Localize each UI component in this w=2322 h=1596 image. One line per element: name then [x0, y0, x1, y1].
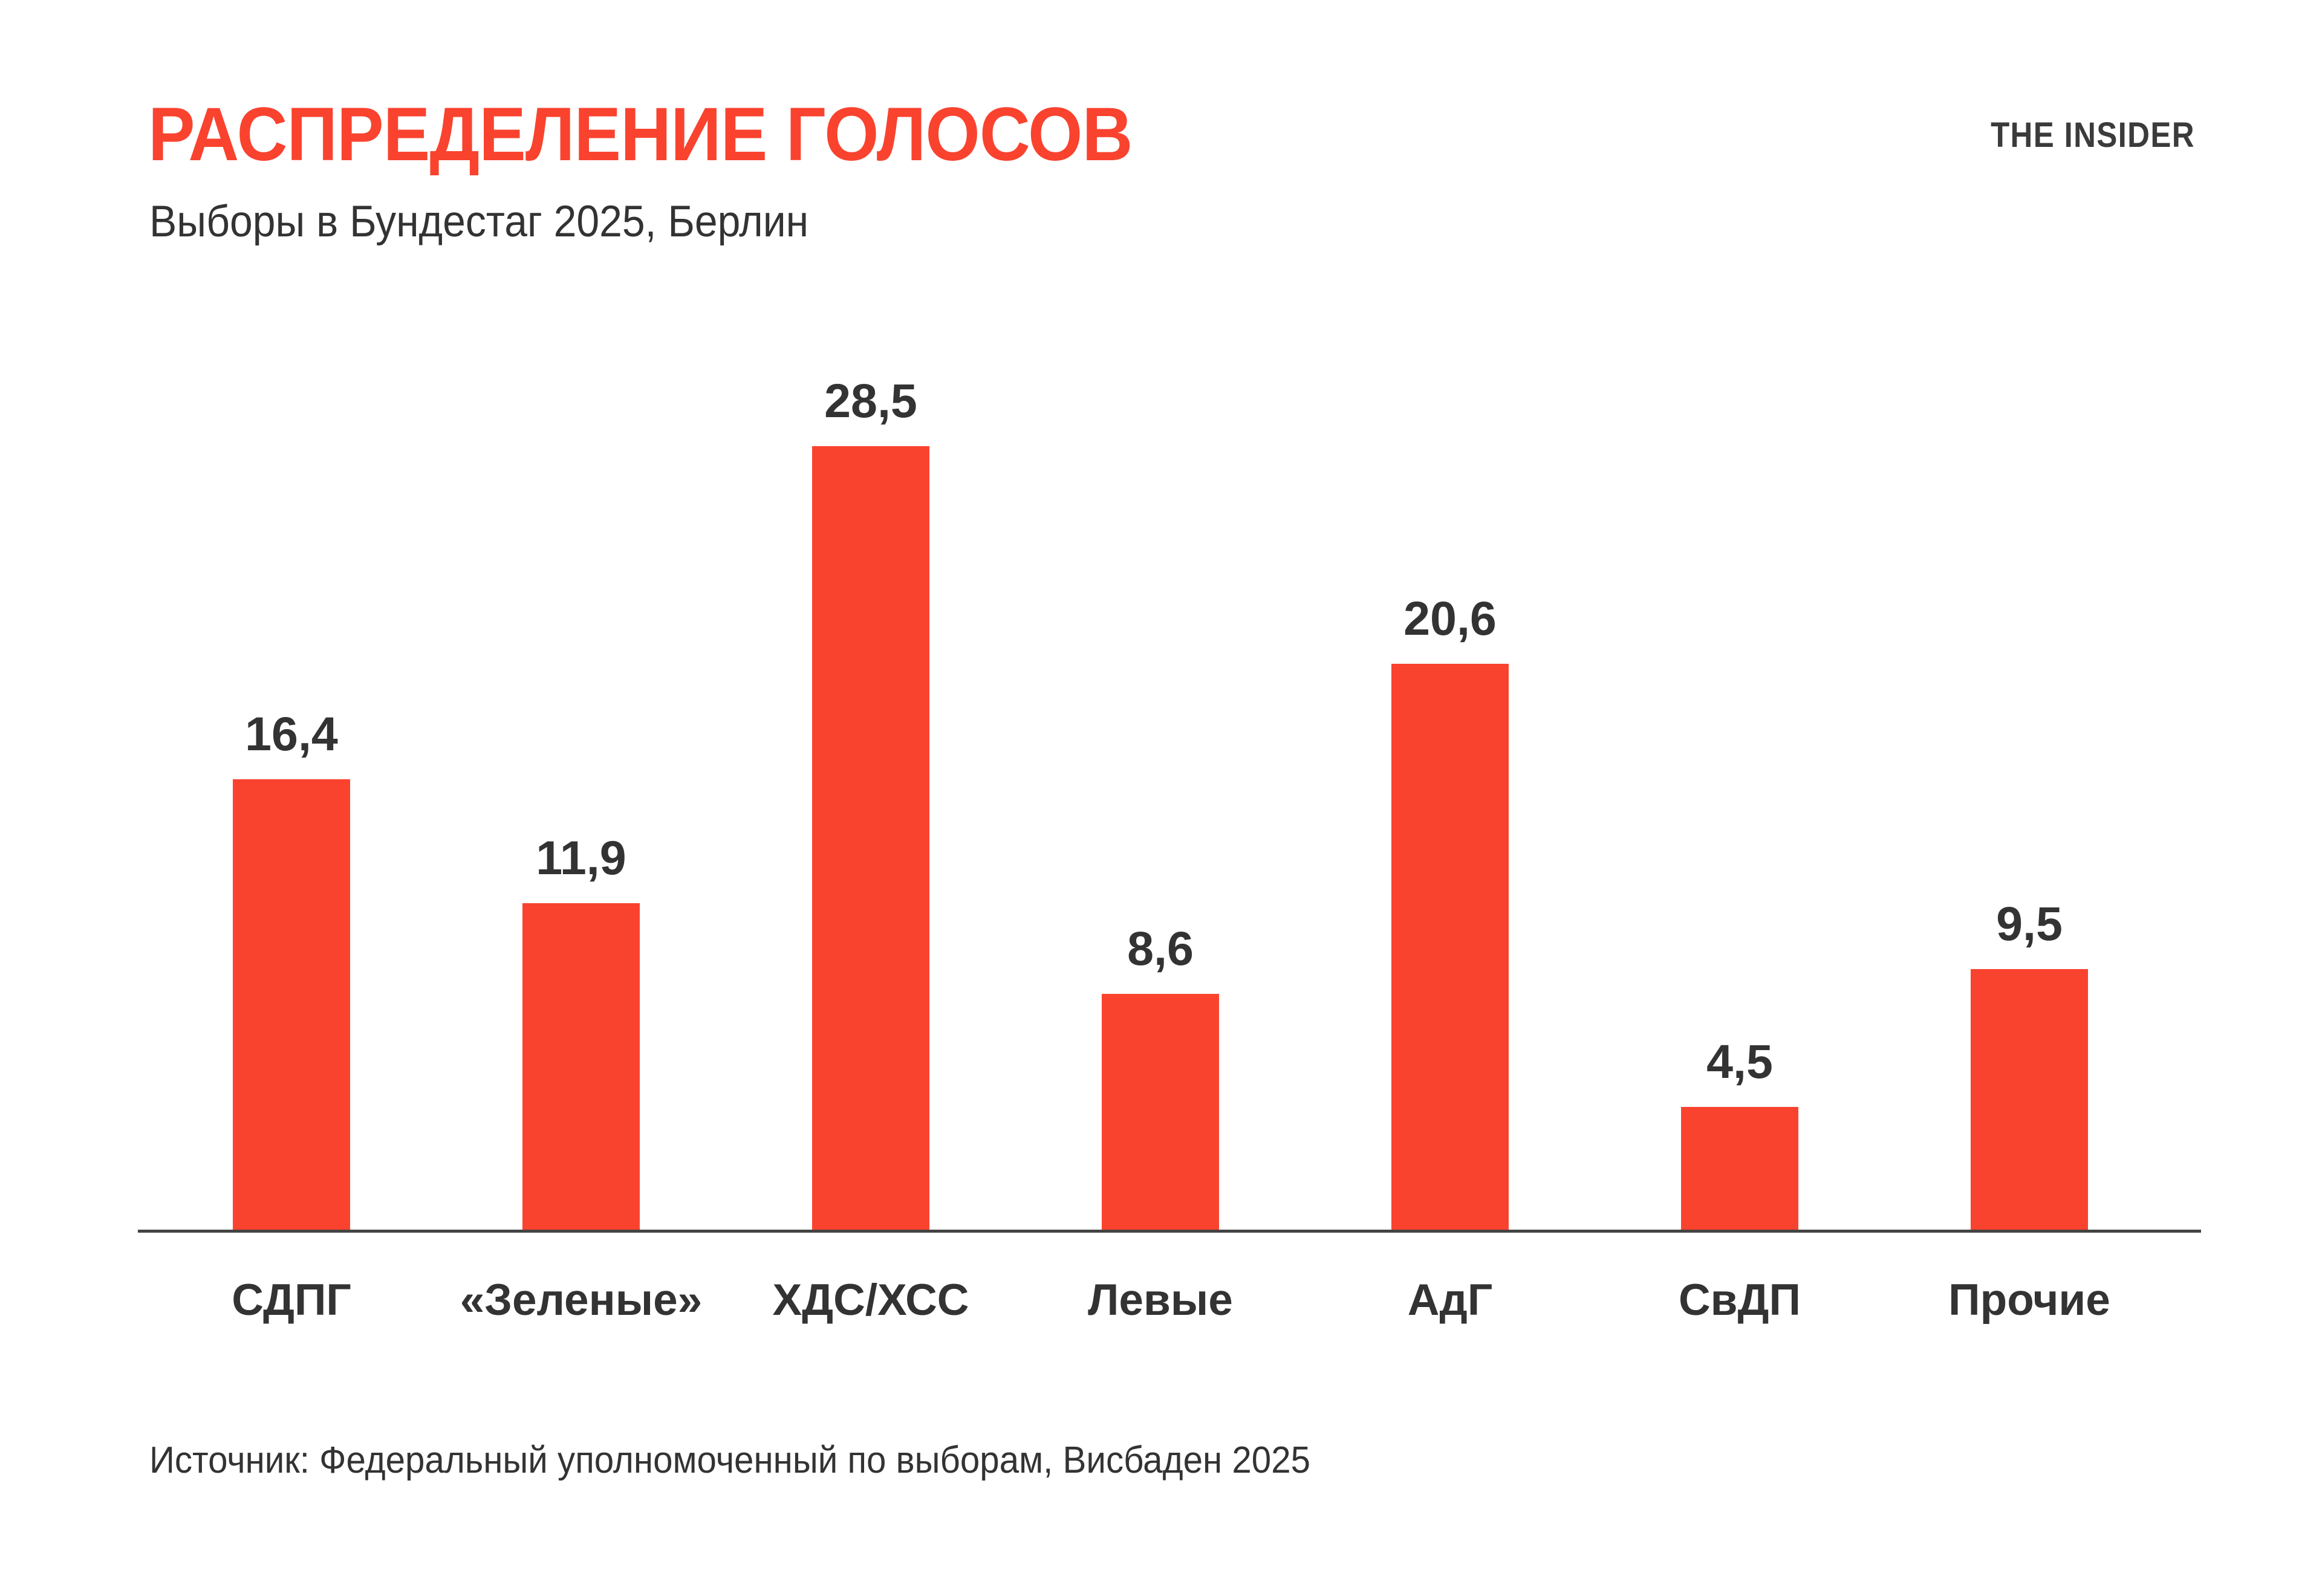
- bar-category-label: Прочие: [1880, 1278, 2179, 1322]
- bar-value-label: 4,5: [1627, 1037, 1853, 1085]
- bar-group: 20,6АдГ: [1391, 0, 1509, 1231]
- bar-category-label: СДПГ: [142, 1278, 441, 1322]
- bar-group: 11,9«Зеленые»: [522, 0, 640, 1231]
- bar[interactable]: [1391, 664, 1509, 1231]
- bar-value-label: 28,5: [758, 377, 984, 424]
- infographic-canvas: РАСПРЕДЕЛЕНИЕ ГОЛОСОВ Выборы в Бундестаг…: [0, 0, 2322, 1596]
- bar[interactable]: [1102, 994, 1219, 1231]
- bar[interactable]: [812, 446, 929, 1231]
- bar-category-label: ХДС/ХСС: [721, 1278, 1020, 1322]
- bar-category-label: СвДП: [1590, 1278, 1889, 1322]
- bar-group: 9,5Прочие: [1971, 0, 2088, 1231]
- bar-group: 8,6Левые: [1102, 0, 1219, 1231]
- x-axis-line: [138, 1230, 2201, 1233]
- bar-value-label: 9,5: [1916, 900, 2142, 947]
- bar[interactable]: [233, 779, 350, 1231]
- source-note: Источник: Федеральный уполномоченный по …: [149, 1442, 1310, 1479]
- bar[interactable]: [1681, 1107, 1798, 1231]
- bar-value-label: 16,4: [178, 710, 405, 757]
- bar-value-label: 11,9: [468, 834, 694, 881]
- bar-value-label: 20,6: [1337, 594, 1563, 642]
- bar-category-label: «Зеленые»: [432, 1278, 730, 1322]
- bar-value-label: 8,6: [1047, 924, 1273, 972]
- bar-group: 4,5СвДП: [1681, 0, 1798, 1231]
- bar-group: 16,4СДПГ: [233, 0, 350, 1231]
- bar-category-label: АдГ: [1301, 1278, 1599, 1322]
- bar[interactable]: [522, 903, 640, 1231]
- bar[interactable]: [1971, 969, 2088, 1231]
- bar-category-label: Левые: [1011, 1278, 1310, 1322]
- bar-group: 28,5ХДС/ХСС: [812, 0, 929, 1231]
- bar-chart-plot: 16,4СДПГ11,9«Зеленые»28,5ХДС/ХСС8,6Левые…: [0, 0, 2322, 1596]
